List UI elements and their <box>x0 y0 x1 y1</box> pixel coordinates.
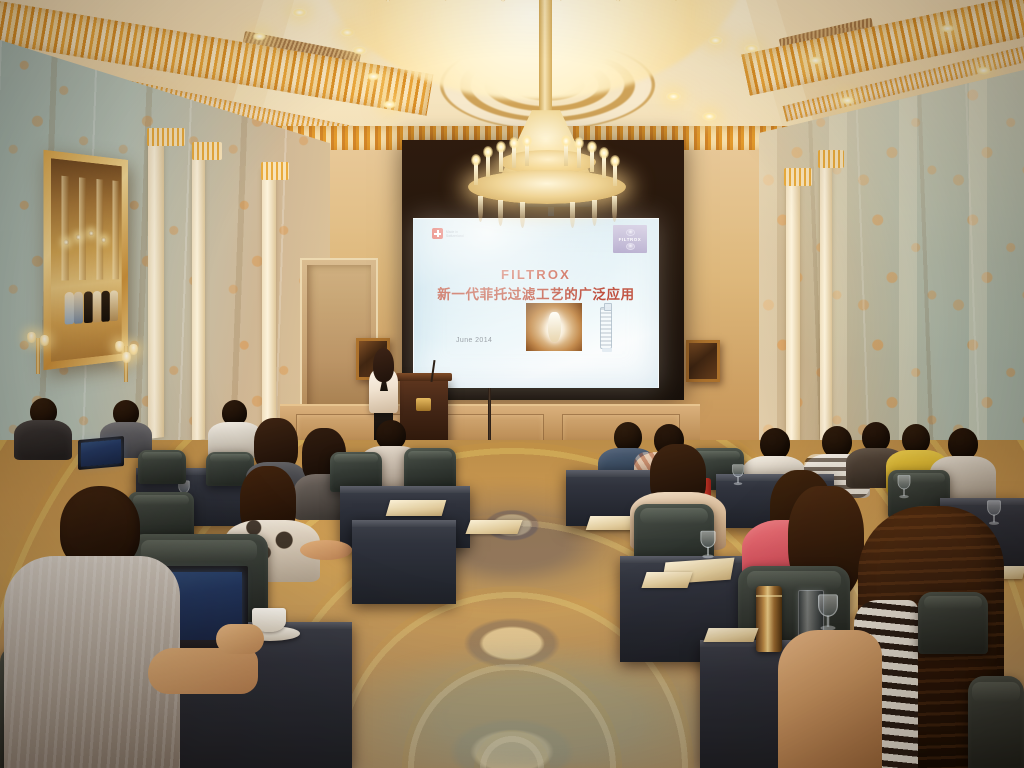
sconce-bulb-icon <box>115 341 124 352</box>
laptop-screen <box>81 439 121 466</box>
downlight-icon <box>702 112 717 121</box>
wine-glass <box>898 475 911 499</box>
chair-highlight <box>133 495 188 506</box>
painting-column <box>112 180 118 279</box>
painting-figure <box>110 290 118 321</box>
chair-highlight <box>142 452 182 459</box>
chair-highlight <box>210 454 250 461</box>
downlight-icon <box>808 56 823 65</box>
projection-screen: Made in Switzerland FILTROX FILTROX 新一代菲… <box>413 218 659 388</box>
painting-column <box>96 179 103 279</box>
chandelier-candle-icon <box>613 164 617 186</box>
chandelier-candle-icon <box>564 144 568 166</box>
pilaster-cap-left-c <box>261 162 289 180</box>
chair <box>138 450 186 484</box>
glass-bowl <box>818 594 838 617</box>
handout-paper <box>386 500 447 516</box>
glass-bowl <box>898 475 911 489</box>
handout-paper <box>465 520 522 534</box>
chandelier-candle-icon <box>486 155 490 177</box>
pilaster-left-a <box>148 137 164 439</box>
chandelier-crystal-drop <box>478 196 483 222</box>
chair <box>918 592 988 654</box>
chandelier-candle-icon <box>512 146 516 168</box>
wall-sconce-left <box>30 330 46 374</box>
slide-subtitle-chinese: 新一代菲托过滤工艺的广泛应用 <box>414 283 658 303</box>
chair-highlight <box>640 508 707 524</box>
downlight-icon <box>352 46 367 55</box>
chair <box>968 676 1024 768</box>
chandelier-candle-icon <box>590 150 594 172</box>
pilaster-cap-left-b <box>192 142 222 160</box>
audience-body <box>14 420 72 460</box>
chair-highlight <box>408 451 452 460</box>
glass-foot <box>899 495 909 498</box>
pilaster-left-c <box>262 170 276 443</box>
podium-crest-icon <box>416 398 431 411</box>
downlight-icon <box>252 32 267 41</box>
downlight-icon <box>666 92 681 101</box>
chandelier-candle-icon <box>525 144 529 166</box>
chair-highlight <box>334 454 378 463</box>
podium-top <box>396 373 452 381</box>
gold-thermos-flask <box>756 586 782 652</box>
swiss-made-text: Made in Switzerland <box>446 230 464 238</box>
painting-figure <box>65 291 74 324</box>
downlight-icon <box>708 36 723 45</box>
presenter-hair <box>373 348 394 382</box>
chandelier-candle-icon <box>577 146 581 168</box>
glass-bowl <box>987 500 1001 515</box>
wine-glass <box>818 594 838 632</box>
laptop <box>78 436 124 470</box>
audience-hand <box>216 624 264 654</box>
swiss-line-2: Switzerland <box>446 234 464 238</box>
painting-canvas <box>51 158 122 361</box>
table-row <box>352 520 456 604</box>
chandelier-candle-icon <box>474 163 478 185</box>
glass-bowl <box>700 531 715 548</box>
downlight-icon <box>976 66 991 75</box>
slide-product-photo <box>526 303 582 351</box>
wall-sconce-right <box>118 338 134 382</box>
downlight-icon <box>940 24 955 33</box>
table-top <box>352 520 456 527</box>
chandelier-crystal-drop <box>570 202 575 228</box>
table-top <box>940 498 1024 505</box>
filtrox-logo-text: FILTROX <box>619 237 642 242</box>
painting-figure <box>93 290 102 322</box>
painting-figure <box>84 291 93 323</box>
painting-column <box>62 176 69 281</box>
wine-glass <box>732 464 744 486</box>
chair-highlight <box>972 682 1019 702</box>
chair <box>404 448 456 490</box>
projector-mount <box>548 206 554 216</box>
chandelier-candle-icon <box>602 156 606 178</box>
glass-foot <box>734 482 743 485</box>
swiss-cross-icon <box>432 228 443 239</box>
painting-column <box>79 177 86 279</box>
chandelier-crystal-drop <box>520 202 525 228</box>
downlight-icon <box>382 100 397 109</box>
table-top <box>340 486 470 493</box>
conference-room-photo: Made in Switzerland FILTROX FILTROX 新一代菲… <box>0 0 1024 768</box>
downlight-icon <box>366 72 381 81</box>
downlight-icon <box>292 8 307 17</box>
wine-glass <box>700 531 715 560</box>
downlight-icon <box>744 44 759 53</box>
painting-figure <box>74 291 83 323</box>
filtrox-corner-logo: FILTROX <box>613 225 647 253</box>
painting-light-icon <box>102 237 107 242</box>
swiss-made-logo: Made in Switzerland <box>432 228 464 239</box>
pilaster-cap-right-b <box>818 150 844 168</box>
chair-highlight <box>924 596 983 610</box>
chandelier-crystal-drop <box>592 200 597 226</box>
chandelier-crystal-drop <box>498 200 503 226</box>
glass-foot <box>989 522 999 525</box>
audience-arm <box>148 648 258 694</box>
glass-bowl <box>732 464 744 477</box>
pilaster-left-b <box>192 149 205 440</box>
ballroom-oil-painting <box>44 150 128 370</box>
sconce-bulb-icon <box>27 332 36 343</box>
pilaster-cap-left-a <box>147 128 185 146</box>
small-wall-art-right <box>686 340 720 382</box>
painting-light-icon <box>89 231 94 236</box>
pilaster-right-a <box>786 175 800 442</box>
filtrox-disc-icon <box>626 243 635 250</box>
downlight-icon <box>840 96 855 105</box>
handout-paper <box>641 572 692 588</box>
slide-brand-title: FILTROX <box>414 267 658 282</box>
wine-glass <box>987 500 1001 526</box>
audience-arm <box>300 540 352 560</box>
handout-paper <box>703 628 758 642</box>
filtrox-disc-icon <box>626 229 635 236</box>
glass-foot <box>702 555 713 559</box>
sconce-bulb-icon <box>40 335 49 346</box>
slide-date: June 2014 <box>456 337 492 344</box>
slide-filter-cartridge-diagram <box>600 307 612 349</box>
audience-arm <box>778 630 882 768</box>
chair-highlight <box>141 540 257 561</box>
pilaster-cap-right-a <box>784 168 812 186</box>
chandelier-candle-icon <box>499 150 503 172</box>
sconce-bulb-icon <box>122 352 131 363</box>
chandelier-crystal-drop <box>612 196 617 222</box>
pilaster-right-b <box>820 157 832 442</box>
